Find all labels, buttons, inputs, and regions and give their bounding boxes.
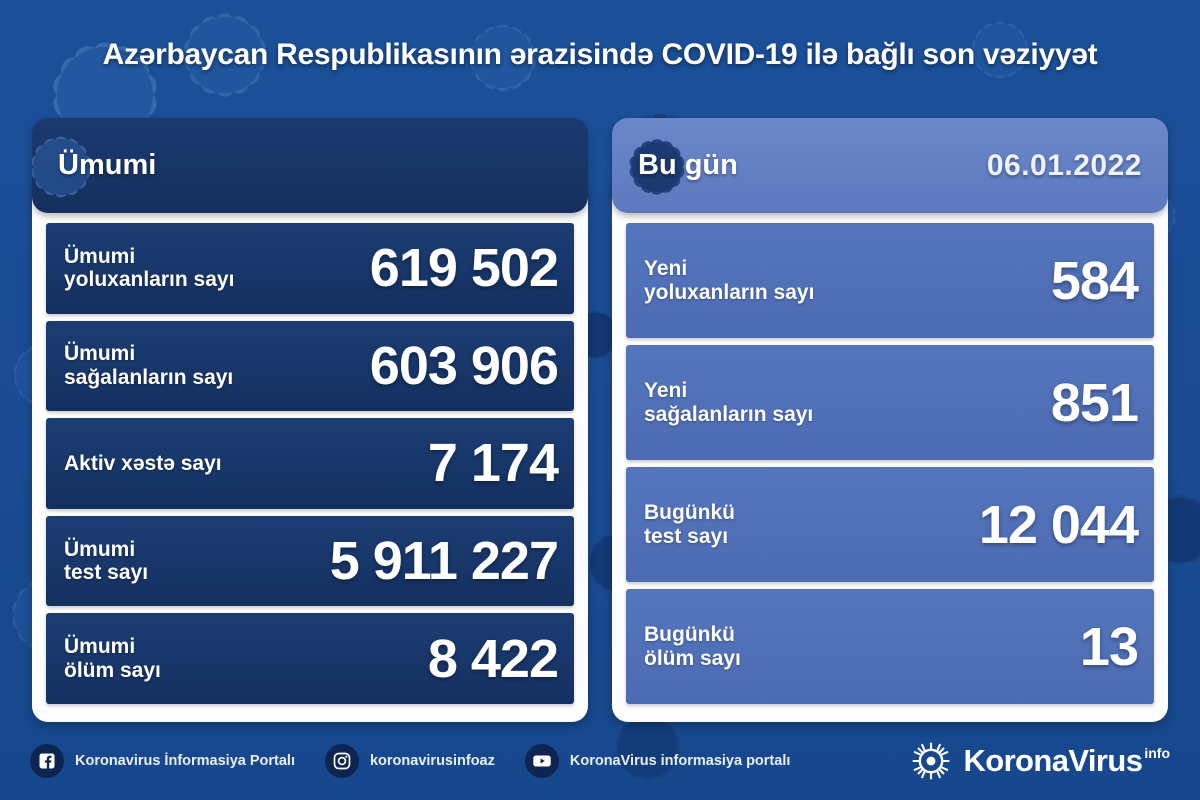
- stat-label: Aktiv xəstə sayı: [64, 452, 222, 476]
- total-panel: Ümumi Ümumi yoluxanların sayı 619 502 Üm…: [32, 118, 588, 722]
- total-panel-header-label: Ümumi: [58, 149, 156, 182]
- stat-label: Ümumi test sayı: [64, 538, 148, 585]
- social-label: KoronaVirus informasiya portalı: [570, 753, 791, 769]
- social-instagram[interactable]: koronavirusinfoaz: [325, 744, 495, 778]
- page-title-text: Azərbaycan Respublikasının ərazisində CO…: [0, 38, 1200, 72]
- stat-value: 5 911 227: [330, 534, 558, 588]
- total-panel-header: Ümumi: [32, 118, 588, 213]
- today-panel: Bu gün 06.01.2022 Yeni yoluxanların sayı…: [612, 118, 1168, 722]
- stat-label: Ümumi ölüm sayı: [64, 635, 161, 682]
- today-panel-header-label: Bu gün: [638, 149, 738, 182]
- stat-value: 619 502: [370, 241, 558, 295]
- stat-value: 8 422: [428, 632, 558, 686]
- instagram-icon: [325, 744, 359, 778]
- stat-row-total-cases: Ümumi yoluxanların sayı 619 502: [46, 223, 574, 314]
- stat-value: 584: [1051, 254, 1138, 308]
- today-panel-body: Yeni yoluxanların sayı 584 Yeni sağalanl…: [612, 179, 1168, 722]
- social-label: Koronavirus İnformasiya Portalı: [75, 753, 295, 769]
- total-panel-body: Ümumi yoluxanların sayı 619 502 Ümumi sa…: [32, 179, 588, 722]
- stat-row-today-deaths: Bugünkü ölüm sayı 13: [626, 589, 1154, 704]
- stat-label: Yeni yoluxanların sayı: [644, 257, 814, 304]
- stat-row-new-recovered: Yeni sağalanların sayı 851: [626, 345, 1154, 460]
- youtube-icon: [525, 744, 559, 778]
- social-label: koronavirusinfoaz: [370, 753, 495, 769]
- virus-sunburst-icon: [911, 741, 951, 781]
- stat-row-today-tests: Bugünkü test sayı 12 044: [626, 467, 1154, 582]
- brand-suffix: info: [1144, 745, 1170, 761]
- stat-label: Bugünkü test sayı: [644, 501, 735, 548]
- stat-row-total-tests: Ümumi test sayı 5 911 227: [46, 516, 574, 607]
- stat-row-new-cases: Yeni yoluxanların sayı 584: [626, 223, 1154, 338]
- social-facebook[interactable]: Koronavirus İnformasiya Portalı: [30, 744, 295, 778]
- footer: Koronavirus İnformasiya Portalı koronavi…: [0, 722, 1200, 800]
- covid-stats-poster: Azərbaycan Respublikasının ərazisində CO…: [0, 0, 1200, 800]
- stat-row-total-recovered: Ümumi sağalanların sayı 603 906: [46, 321, 574, 412]
- page-title: Azərbaycan Respublikasının ərazisində CO…: [0, 38, 1200, 72]
- stat-value: 603 906: [370, 339, 558, 393]
- panels-container: Ümumi Ümumi yoluxanların sayı 619 502 Üm…: [32, 118, 1168, 722]
- brand-logo[interactable]: KoronaVirus info: [911, 741, 1170, 781]
- social-youtube[interactable]: KoronaVirus informasiya portalı: [525, 744, 791, 778]
- stat-label: Bugünkü ölüm sayı: [644, 623, 741, 670]
- stat-row-active-cases: Aktiv xəstə sayı 7 174: [46, 418, 574, 509]
- stat-row-total-deaths: Ümumi ölüm sayı 8 422: [46, 613, 574, 704]
- stat-label: Ümumi sağalanların sayı: [64, 342, 233, 389]
- today-panel-date: 06.01.2022: [987, 149, 1142, 183]
- stat-label: Ümumi yoluxanların sayı: [64, 245, 234, 292]
- today-panel-header: Bu gün 06.01.2022: [612, 118, 1168, 213]
- stat-value: 851: [1051, 376, 1138, 430]
- stat-value: 7 174: [428, 436, 558, 490]
- stat-label: Yeni sağalanların sayı: [644, 379, 813, 426]
- stat-value: 13: [1080, 620, 1138, 674]
- brand-name: KoronaVirus: [963, 743, 1142, 779]
- stat-value: 12 044: [979, 498, 1138, 552]
- facebook-icon: [30, 744, 64, 778]
